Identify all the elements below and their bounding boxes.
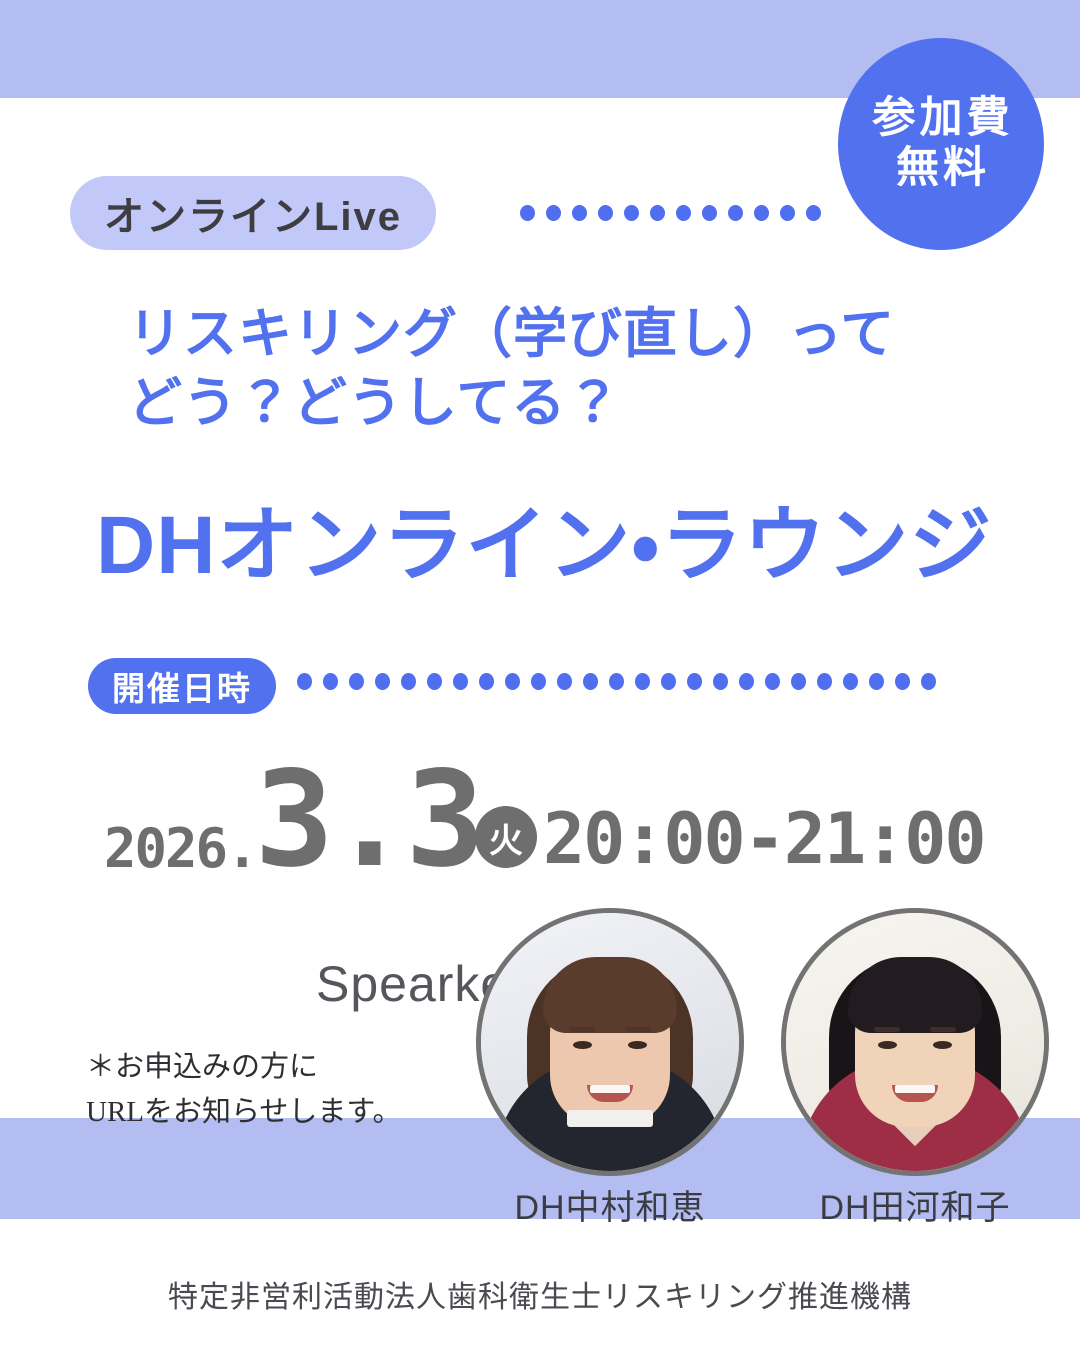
speaker-1-avatar — [476, 908, 744, 1176]
free-badge-line2: 無料 — [892, 146, 990, 192]
dotted-rule-date — [297, 673, 936, 690]
event-flyer: 参加費 無料 オンラインLive リスキリング（学び直し）って どう？どうしてる… — [0, 0, 1080, 1350]
event-monthday: 3.3 — [255, 759, 481, 882]
rule-dot — [453, 673, 468, 690]
application-note-line1: ＊お申込みの方に — [86, 1051, 318, 1083]
application-note: ＊お申込みの方に URLをお知らせします。 — [86, 1045, 402, 1135]
event-datetime: 2026. 3.3 火 20:00-21:00 — [104, 742, 1024, 882]
rule-dot — [650, 205, 665, 221]
online-live-pill: オンラインLive — [70, 176, 436, 250]
hair-top-shape — [543, 957, 677, 1033]
subheading-line2: どう？どうしてる？ — [128, 369, 1028, 438]
page-title: DHオンライン・ラウンジ — [96, 500, 1056, 592]
event-datetime-pill-label: 開催日時 — [112, 662, 252, 710]
eye-left — [878, 1041, 897, 1049]
rule-dot — [817, 673, 832, 690]
application-note-line2: URLをお知らせします。 — [86, 1090, 402, 1135]
eye-left — [573, 1041, 592, 1049]
rule-dot — [583, 673, 598, 690]
rule-dot — [520, 205, 535, 221]
event-year: 2026. — [104, 822, 257, 882]
online-live-label: オンラインLive — [104, 184, 402, 242]
rule-dot — [479, 673, 494, 690]
eyebrow-left — [569, 1027, 595, 1032]
speaker-2-avatar — [781, 908, 1049, 1176]
rule-dot — [780, 205, 795, 221]
rule-dot — [754, 205, 769, 221]
rule-dot — [297, 673, 312, 690]
rule-dot — [572, 205, 587, 221]
rule-dot — [765, 673, 780, 690]
rule-dot — [869, 673, 884, 690]
subheading-line1: リスキリング（学び直し）って — [128, 304, 895, 364]
rule-dot — [349, 673, 364, 690]
rule-dot — [624, 205, 639, 221]
event-time: 20:00-21:00 — [543, 804, 985, 882]
speaker-card-1: DH中村和恵 — [476, 908, 744, 1176]
rule-dot — [713, 673, 728, 690]
free-badge-line1: 参加費 — [869, 96, 1014, 142]
rule-dot — [661, 673, 676, 690]
hair-top-shape — [848, 957, 982, 1033]
rule-dot — [676, 205, 691, 221]
rule-dot — [557, 673, 572, 690]
rule-dot — [546, 205, 561, 221]
rule-dot — [843, 673, 858, 690]
eyebrow-left — [874, 1027, 900, 1032]
rule-dot — [427, 673, 442, 690]
rule-dot — [598, 205, 613, 221]
event-dayofweek-badge: 火 — [475, 806, 537, 868]
free-participation-badge: 参加費 無料 — [838, 38, 1044, 250]
speaker-2-name: DH田河和子 — [781, 1180, 1049, 1229]
rule-dot — [895, 673, 910, 690]
rule-dot — [609, 673, 624, 690]
eye-right — [628, 1041, 647, 1049]
rule-dot — [375, 673, 390, 690]
organization-name: 特定非営利活動法人歯科衛生士リスキリング推進機構 — [0, 1272, 1080, 1316]
eyebrow-right — [625, 1027, 651, 1032]
eyebrow-right — [930, 1027, 956, 1032]
rule-dot — [739, 673, 754, 690]
event-datetime-pill: 開催日時 — [88, 658, 276, 714]
rule-dot — [401, 673, 416, 690]
rule-dot — [728, 205, 743, 221]
rule-dot — [531, 673, 546, 690]
rule-dot — [702, 205, 717, 221]
speaker-1-name: DH中村和恵 — [476, 1180, 744, 1229]
rule-dot — [806, 205, 821, 221]
rule-dot — [687, 673, 702, 690]
dotted-rule-top — [520, 205, 821, 221]
rule-dot — [323, 673, 338, 690]
subheading: リスキリング（学び直し）って どう？どうしてる？ — [128, 300, 1028, 438]
eye-right — [933, 1041, 952, 1049]
rule-dot — [505, 673, 520, 690]
rule-dot — [635, 673, 650, 690]
rule-dot — [791, 673, 806, 690]
collar-tab — [567, 1110, 653, 1127]
speaker-card-2: DH田河和子 — [781, 908, 1049, 1176]
rule-dot — [921, 673, 936, 690]
